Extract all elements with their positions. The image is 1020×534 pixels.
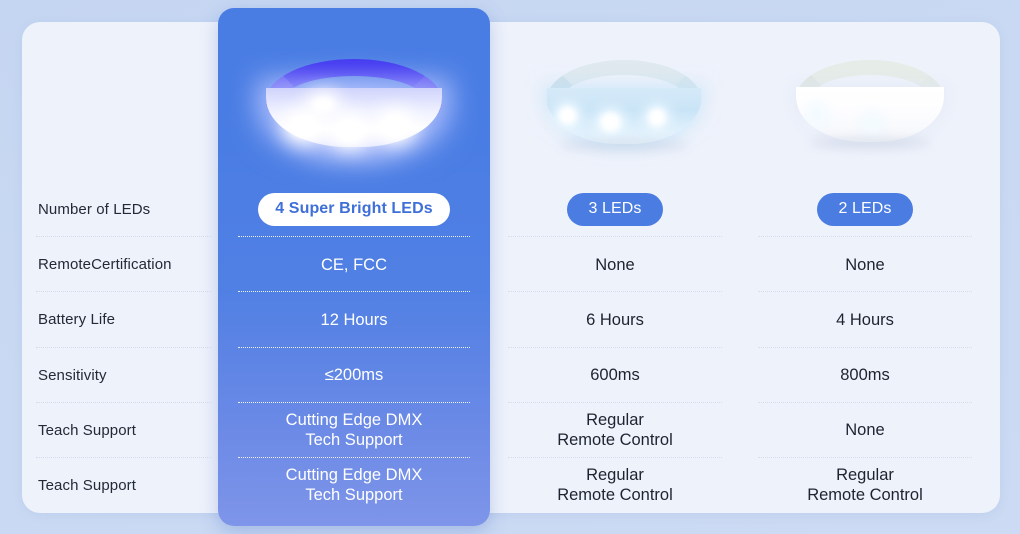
header-competitor-1 <box>490 22 740 182</box>
comparison-table-screenshot: Number of LEDs 4 Super Bright LEDs 3 LED… <box>0 0 1020 534</box>
row-label-sensitivity: Sensitivity <box>22 348 218 403</box>
row-label-remote-certification: RemoteCertification <box>22 237 218 292</box>
comparison-grid: Number of LEDs 4 Super Bright LEDs 3 LED… <box>22 22 1000 513</box>
badge-competitor-1-leds[interactable]: 3 LEDs <box>567 193 662 226</box>
cell-competitor-2-sensitivity: 800ms <box>740 348 990 403</box>
row-label-number-of-leds: Number of LEDs <box>22 182 218 237</box>
row-label-teach-support-1: Teach Support <box>22 403 218 458</box>
cell-competitor-2-number-of-leds: 2 LEDs <box>740 182 990 237</box>
cell-featured-teach-support-2: Cutting Edge DMXTech Support <box>218 458 490 513</box>
cell-featured-sensitivity: ≤200ms <box>218 348 490 403</box>
row-label-teach-support-2: Teach Support <box>22 458 218 513</box>
cell-competitor-1-remote-certification: None <box>490 237 740 292</box>
cell-competitor-2-battery-life: 4 Hours <box>740 292 990 347</box>
header-competitor-2 <box>740 22 990 182</box>
cell-competitor-1-battery-life: 6 Hours <box>490 292 740 347</box>
cell-competitor-1-sensitivity: 600ms <box>490 348 740 403</box>
cell-competitor-1-number-of-leds: 3 LEDs <box>490 182 740 237</box>
cell-featured-remote-certification: CE, FCC <box>218 237 490 292</box>
badge-competitor-2-leds[interactable]: 2 LEDs <box>817 193 912 226</box>
cell-competitor-2-remote-certification: None <box>740 237 990 292</box>
cell-competitor-1-teach-support-2: RegularRemote Control <box>490 458 740 513</box>
badge-featured-leds[interactable]: 4 Super Bright LEDs <box>258 193 449 226</box>
header-spacer <box>22 22 218 182</box>
row-label-battery-life: Battery Life <box>22 292 218 347</box>
cell-featured-number-of-leds: 4 Super Bright LEDs <box>218 182 490 237</box>
header-featured <box>218 22 490 182</box>
cell-featured-teach-support-1: Cutting Edge DMXTech Support <box>218 403 490 458</box>
cell-featured-battery-life: 12 Hours <box>218 292 490 347</box>
cell-competitor-2-teach-support-2: RegularRemote Control <box>740 458 990 513</box>
cell-competitor-2-teach-support-1: None <box>740 403 990 458</box>
cell-competitor-1-teach-support-1: RegularRemote Control <box>490 403 740 458</box>
